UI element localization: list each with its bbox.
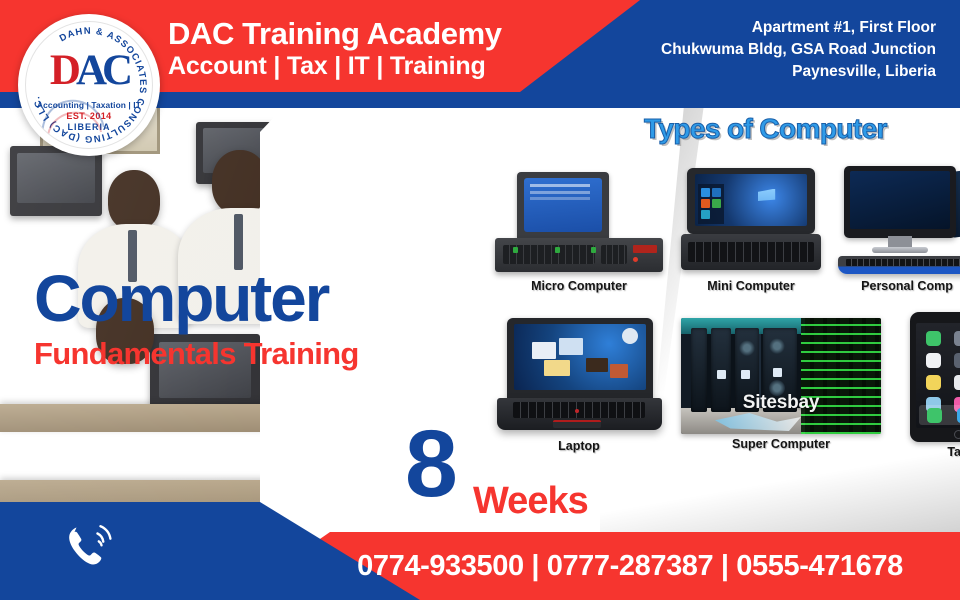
rack-indicator: [717, 370, 726, 379]
start-menu-shape: [698, 184, 724, 224]
app-icon: [954, 353, 960, 368]
windows-screen-icon: [695, 174, 807, 226]
logo-letter-a: A: [76, 47, 102, 94]
tablet-dock: [919, 405, 960, 425]
trackpad-shape: [553, 420, 601, 428]
logo-letter-d: D: [50, 47, 76, 94]
company-logo: DAHN & ASSOCIATES CONSULTING (DAC) LLC. …: [18, 14, 160, 156]
address-block: Apartment #1, First Floor Chukwuma Bldg,…: [661, 17, 936, 83]
tile-shape: [701, 188, 710, 197]
mini-computer-image: [681, 168, 821, 276]
monitor-icon: [844, 166, 956, 238]
address-line-1: Apartment #1, First Floor: [661, 17, 936, 39]
tile-shape: [712, 199, 721, 208]
app-icon: [926, 331, 941, 346]
headline-primary: Computer: [34, 266, 359, 331]
page-title: Computer Fundamentals Training: [34, 266, 359, 371]
key-cluster: [513, 402, 645, 418]
app-icon: [926, 375, 941, 390]
laptop-image: [497, 318, 662, 436]
laptop-lid-shape: [507, 318, 653, 400]
desktop-screen-icon: [514, 324, 646, 390]
keyboard-shape: [681, 234, 821, 270]
logo-monogram: DAC: [26, 51, 152, 91]
computer-type-label: Micro Computer: [486, 279, 672, 293]
computer-type-card: Personal Comp: [832, 166, 960, 293]
rack-indicator: [773, 368, 782, 377]
monitor-base: [872, 247, 928, 253]
tablet-screen: [916, 323, 960, 428]
flyer-canvas: DAC Training Academy Account | Tax | IT …: [0, 0, 960, 600]
app-icon: [954, 375, 960, 390]
computer-type-card: Micro Computer: [486, 172, 672, 293]
address-line-3: Paynesville, Liberia: [661, 61, 936, 83]
logo-letter-c: C: [102, 47, 128, 94]
window-thumb: [544, 360, 570, 376]
laptop-base-shape: [497, 398, 662, 430]
watermark-text: Sitesbay: [681, 392, 881, 414]
laptop-lid-shape: [687, 168, 815, 234]
phone-call-icon: [63, 523, 119, 575]
function-strip: [633, 245, 657, 253]
tile-shape: [701, 199, 710, 208]
computer-type-card: Tab: [898, 312, 960, 459]
logo-inner-circle: DAHN & ASSOCIATES CONSULTING (DAC) LLC. …: [25, 21, 153, 149]
rack-fan-icon: [769, 338, 785, 354]
computer-type-label: Tab: [898, 445, 960, 459]
tile-shape: [701, 210, 710, 219]
computer-type-label: Mini Computer: [676, 279, 826, 293]
types-section-title: Types of Computer: [644, 113, 887, 145]
led-indicator: [513, 247, 518, 253]
led-indicator: [633, 257, 638, 262]
tile-shape: [712, 188, 721, 197]
personal-computer-image: [832, 166, 960, 276]
app-icon: [927, 408, 942, 423]
computer-type-label: Laptop: [486, 439, 672, 453]
key-cluster: [688, 242, 814, 262]
trackpoint-icon: [575, 409, 579, 413]
rack-fan-icon: [739, 340, 755, 356]
duration-number: 8: [405, 424, 455, 505]
app-icon: [926, 353, 941, 368]
tablet-body: [910, 312, 960, 442]
computer-type-label: Personal Comp: [832, 279, 960, 293]
computer-type-card: Sitesbay Super Computer: [674, 318, 888, 451]
window-thumb: [532, 342, 556, 359]
home-button-icon: [954, 430, 960, 439]
computer-type-card: Mini Computer: [676, 168, 826, 293]
phone-numbers: 0774-933500 | 0777-287387 | 0555-471678: [300, 532, 960, 600]
keyboard-shape: [495, 238, 663, 272]
datacenter-photo: Sitesbay: [681, 318, 881, 434]
window-thumb: [586, 358, 608, 372]
tablet-image: [910, 312, 960, 442]
micro-computer-image: [495, 172, 663, 276]
crt-monitor-icon: [517, 172, 609, 244]
led-indicator: [591, 247, 596, 253]
window-thumb: [559, 338, 583, 355]
numpad-shape: [601, 245, 627, 264]
brand-subtitle: Account | Tax | IT | Training: [168, 52, 502, 80]
headline-secondary: Fundamentals Training: [34, 337, 359, 371]
keyboard-shape: [838, 256, 960, 274]
app-icon: [954, 331, 960, 346]
cable-panel: [801, 318, 881, 434]
super-computer-image: Sitesbay: [681, 318, 881, 434]
window-thumb: [610, 364, 628, 378]
led-indicator: [555, 247, 560, 253]
computer-types-grid: Micro Computer: [486, 160, 960, 490]
brand-title: DAC Training Academy: [168, 18, 502, 51]
duration-unit: Weeks: [473, 480, 588, 523]
computer-type-label: Super Computer: [674, 437, 888, 451]
address-line-2: Chukwuma Bldg, GSA Road Junction: [661, 39, 936, 61]
computer-type-card: Laptop: [486, 318, 672, 453]
clock-widget: [622, 328, 638, 344]
brand-block: DAC Training Academy Account | Tax | IT …: [168, 18, 502, 80]
rack-indicator: [741, 370, 750, 379]
